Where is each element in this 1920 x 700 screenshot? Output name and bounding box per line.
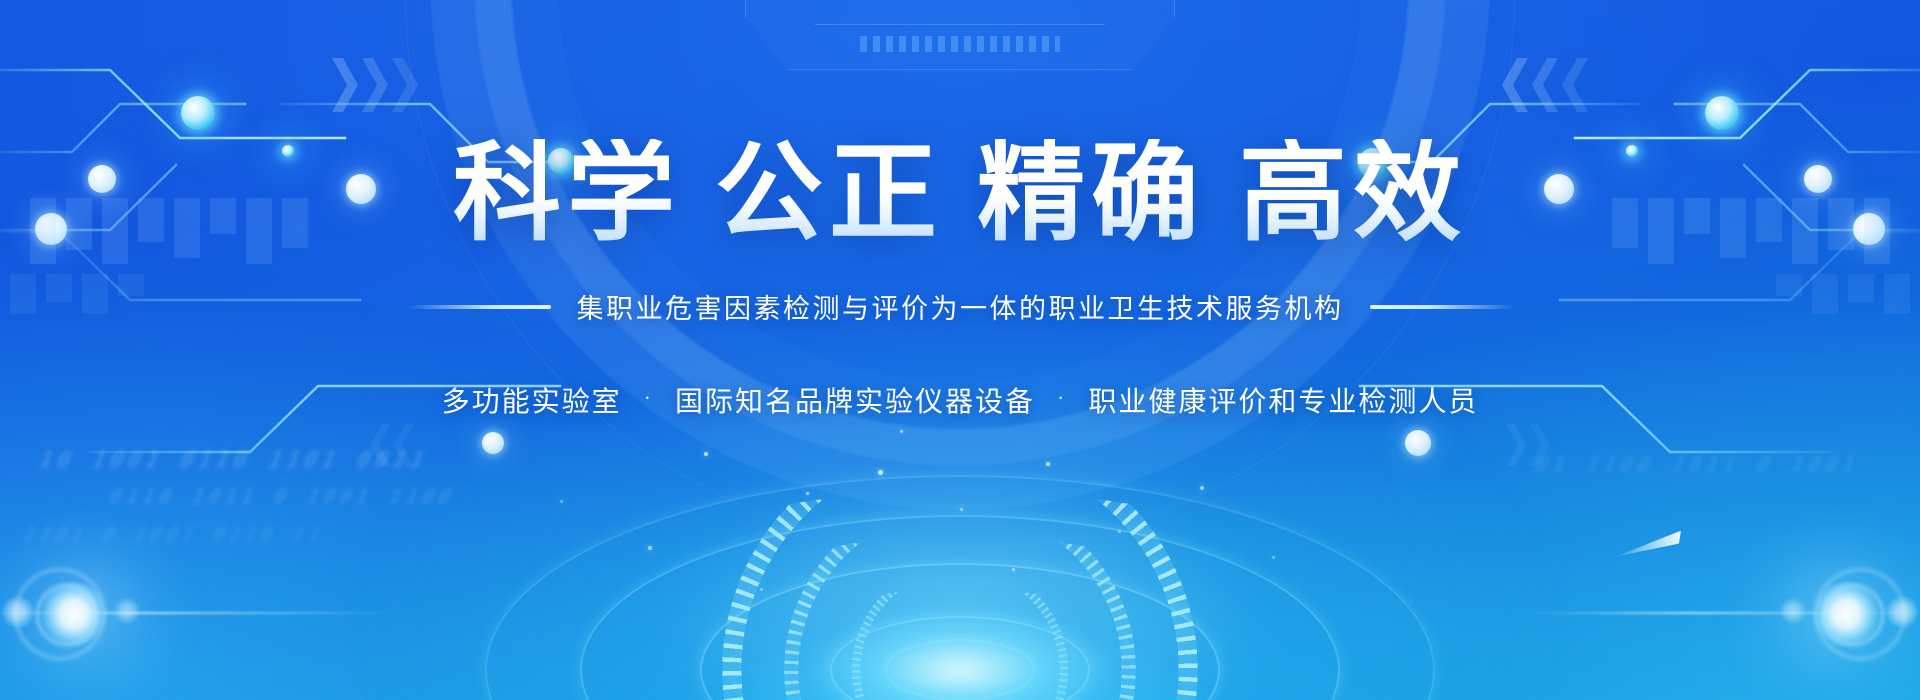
subtitle-text: 集职业危害因素检测与评价为一体的职业卫生技术服务机构 [577,287,1344,326]
hero-banner: 10 1001 0110 1101 0011 0110 1011 0 1001 … [0,0,1920,700]
page-title: 科学公正精确高效 [453,139,1467,247]
banner-content: 科学公正精确高效 集职业危害因素检测与评价为一体的职业卫生技术服务机构 多功能实… [0,0,1920,700]
feature-item-2: 国际知名品牌实验仪器设备 [675,380,1035,420]
headline-word-3: 精确 [977,132,1205,253]
headline-word-4: 高效 [1239,132,1467,253]
subtitle-rule-left [407,305,551,309]
feature-item-1: 多功能实验室 [442,380,622,420]
subtitle-rule-right [1370,305,1514,309]
feature-list: 多功能实验室 · 国际知名品牌实验仪器设备 · 职业健康评价和专业检测人员 [442,380,1479,420]
feature-separator: · [1057,384,1066,410]
subtitle-row: 集职业危害因素检测与评价为一体的职业卫生技术服务机构 [407,287,1514,326]
headline-word-1: 科学 [453,132,681,253]
feature-separator: · [644,384,653,410]
headline-word-2: 公正 [715,132,943,253]
feature-item-3: 职业健康评价和专业检测人员 [1088,380,1478,420]
